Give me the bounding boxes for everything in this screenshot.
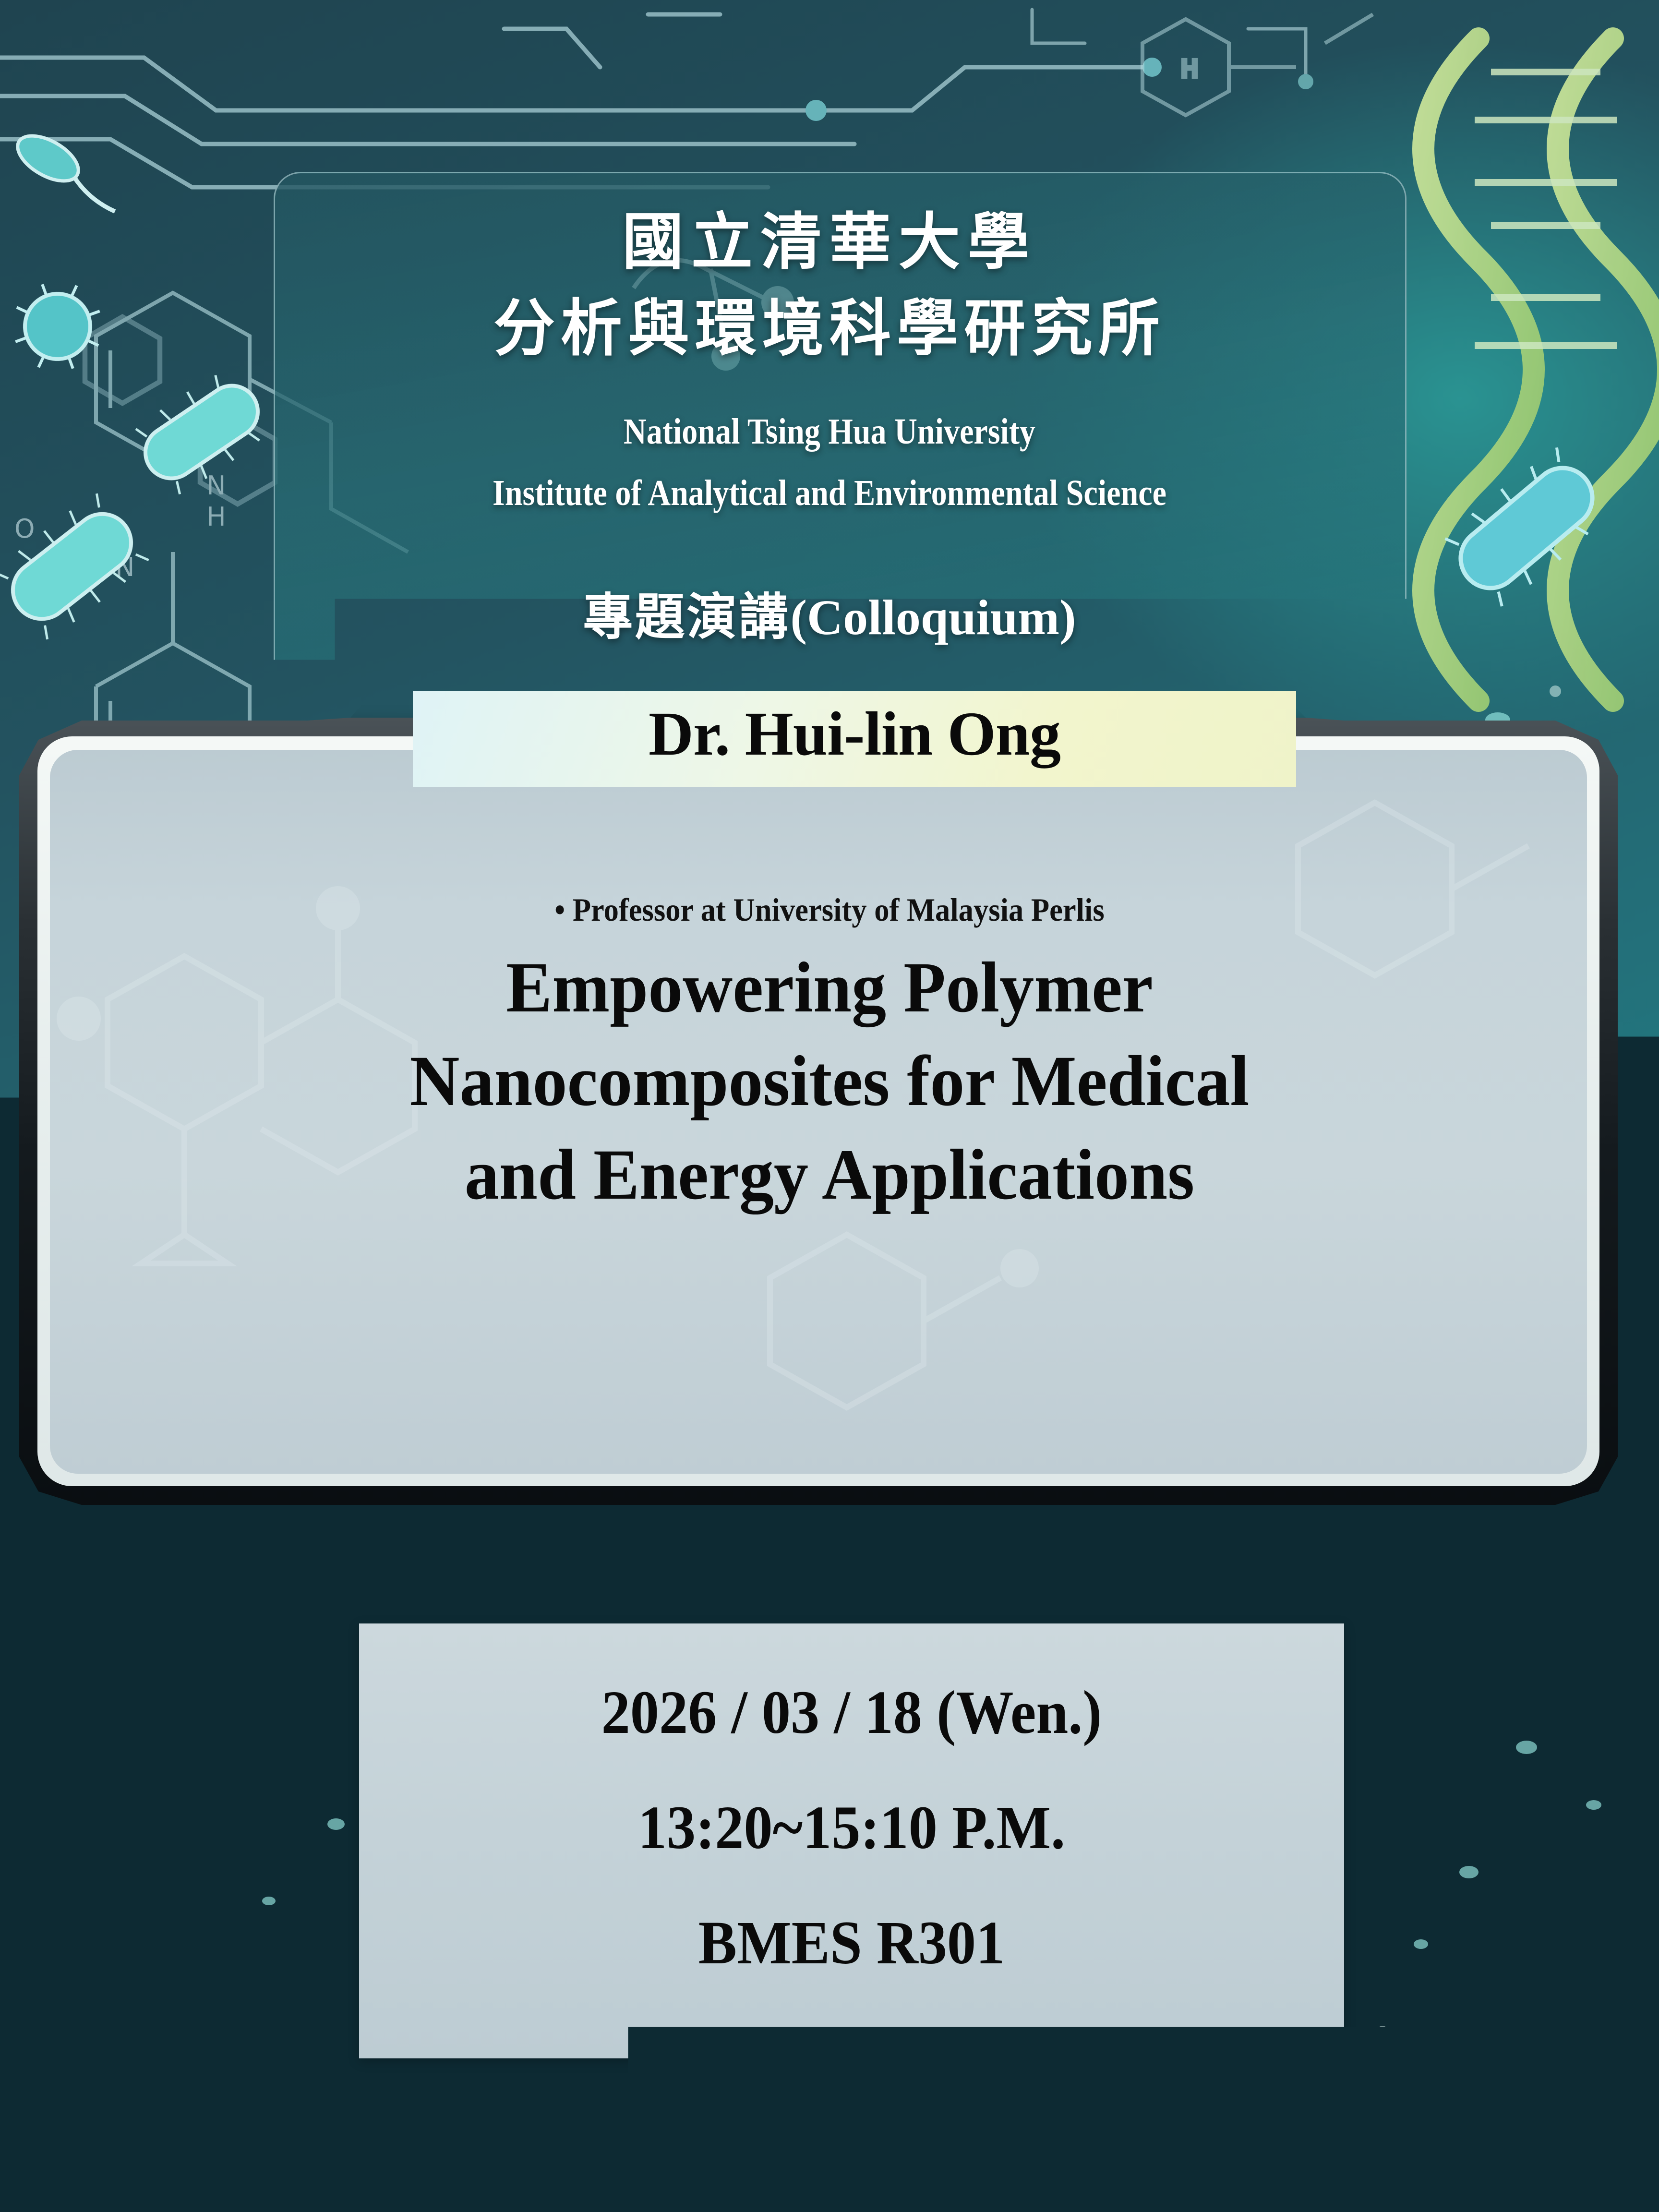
event-type-en: (Colloquium) — [790, 590, 1076, 645]
org-cn-line2: 分析與環境科學研究所 — [0, 278, 1659, 367]
event-details-box: 2026 / 03 / 18 (Wen.) 13:20~15:10 P.M. B… — [359, 1623, 1344, 2058]
event-type-cn: 專題演講 — [583, 588, 790, 646]
event-date: 2026 / 03 / 18 (Wen.) — [389, 1677, 1315, 1748]
event-type-heading: 專題演講(Colloquium) — [0, 576, 1659, 649]
svg-text:N: N — [432, 1502, 452, 1533]
bullet-icon: • — [554, 891, 565, 928]
org-en-line1: National Tsing Hua University — [108, 411, 1551, 453]
talk-title-line3: and Energy Applications — [102, 1128, 1557, 1222]
svg-text:H: H — [1181, 56, 1198, 83]
svg-text:HO: HO — [58, 1558, 102, 1591]
org-cn-line1: 國立清華大學 — [0, 192, 1659, 281]
talk-title-line1: Empowering Polymer — [102, 941, 1557, 1034]
svg-text:O: O — [14, 514, 35, 544]
speaker-affiliation-line: • Professor at University of Malaysia Pe… — [66, 891, 1593, 929]
speaker-name: Dr. Hui-lin Ong — [413, 698, 1296, 770]
speaker-name-tab: Dr. Hui-lin Ong — [413, 691, 1296, 787]
event-venue: BMES R301 — [389, 1908, 1315, 1978]
talk-title-line2: Nanocomposites for Medical — [102, 1034, 1557, 1128]
event-time: 13:20~15:10 P.M. — [389, 1792, 1315, 1863]
talk-title: Empowering Polymer Nanocomposites for Me… — [102, 941, 1557, 1222]
seminar-poster: N H N O H — [0, 0, 1659, 2212]
org-en-line2: Institute of Analytical and Environmenta… — [108, 472, 1551, 514]
speaker-affiliation: Professor at University of Malaysia Perl… — [573, 891, 1105, 928]
svg-text:NO: NO — [29, 1654, 73, 1687]
